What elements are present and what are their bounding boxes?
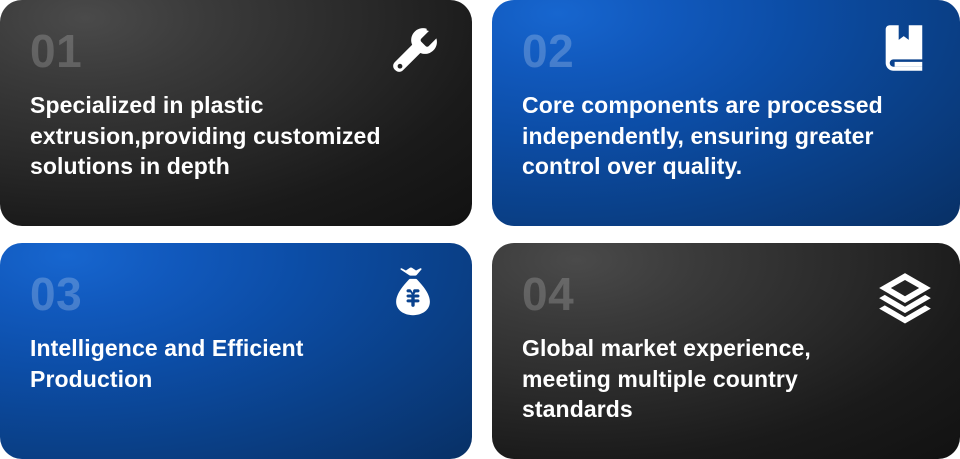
card-number-02: 02 <box>522 28 934 74</box>
card-number-03: 03 <box>30 271 446 317</box>
card-text-01: Specialized in plastic extrusion,providi… <box>30 90 446 182</box>
card-text-03: Intelligence and Efficient Production <box>30 333 446 394</box>
feature-card-01[interactable]: 01 Specialized in plastic extrusion,prov… <box>0 0 472 226</box>
card-text-02: Core components are processed independen… <box>522 90 934 182</box>
feature-cards-grid: 01 Specialized in plastic extrusion,prov… <box>0 0 960 459</box>
feature-card-03[interactable]: 03 Intelligence and Efficient Production <box>0 243 472 459</box>
feature-card-04[interactable]: 04 Global market experience, meeting mul… <box>492 243 960 459</box>
feature-card-02[interactable]: 02 Core components are processed indepen… <box>492 0 960 226</box>
card-number-04: 04 <box>522 271 934 317</box>
card-number-01: 01 <box>30 28 446 74</box>
card-text-04: Global market experience, meeting multip… <box>522 333 934 425</box>
